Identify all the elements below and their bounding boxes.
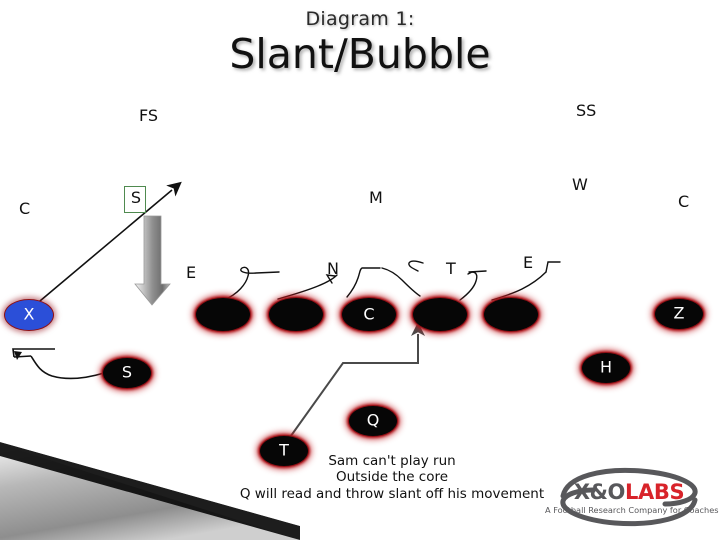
defense-label-nose-tackle: N <box>327 259 339 278</box>
defense-label-end-left: E <box>186 263 196 282</box>
coaching-note-line-1: Sam can't play run <box>232 453 552 469</box>
bubble-route-s <box>13 349 104 378</box>
logo-tagline: A Football Research Company for Coaches <box>545 505 713 515</box>
player-receiver-h-label: H <box>582 360 630 376</box>
coaching-note-line-2: Outside the core <box>232 469 552 485</box>
player-receiver-z-label: Z <box>655 306 703 322</box>
defense-label-sam-linebacker-box: S <box>124 186 146 213</box>
slant-route-x <box>34 190 172 306</box>
player-left-tackle[interactable] <box>195 297 251 332</box>
defense-label-cornerback-right: C <box>678 192 689 211</box>
logo-wordmark: X&OLABS <box>545 480 713 504</box>
coaching-note-line-3: Q will read and throw slant off his move… <box>232 486 552 502</box>
player-right-tackle[interactable] <box>483 297 539 332</box>
xo-labs-logo: X&OLABS A Football Research Company for … <box>545 466 713 528</box>
play-diagram-slide: Diagram 1: Slant/Bubble <box>0 0 720 540</box>
defense-label-will-linebacker: W <box>572 175 588 194</box>
player-center[interactable]: C <box>341 297 397 332</box>
logo-xo-text: X&O <box>574 480 625 504</box>
player-receiver-x-label: X <box>5 307 53 323</box>
player-right-guard[interactable] <box>412 297 468 332</box>
diagram-subtitle: Diagram 1: <box>0 8 720 30</box>
player-center-label: C <box>342 306 396 322</box>
diagram-title: Slant/Bubble <box>0 30 720 78</box>
player-quarterback-label: Q <box>349 413 397 429</box>
player-receiver-z[interactable]: Z <box>654 298 704 330</box>
player-receiver-slot-s-label: S <box>103 365 151 381</box>
player-receiver-x[interactable]: X <box>4 299 54 331</box>
player-left-guard[interactable] <box>268 297 324 332</box>
sam-run-fit-arrow <box>135 216 170 305</box>
player-receiver-slot-s[interactable]: S <box>102 357 152 389</box>
defense-label-end-right: E <box>523 253 533 272</box>
blocking-scheme-lines <box>224 261 560 300</box>
defense-label-cornerback-left: C <box>19 199 30 218</box>
player-quarterback[interactable]: Q <box>348 405 398 437</box>
defense-label-free-safety: FS <box>139 106 158 125</box>
coaching-notes: Sam can't play run Outside the core Q wi… <box>232 453 552 502</box>
player-receiver-h[interactable]: H <box>581 352 631 384</box>
defense-label-sam-linebacker-text: S <box>125 188 147 207</box>
logo-labs-text: LABS <box>625 480 684 504</box>
defense-label-strong-safety: SS <box>576 101 596 120</box>
defense-label-tackle: T <box>446 259 456 278</box>
defense-label-mike-linebacker: M <box>369 188 383 207</box>
